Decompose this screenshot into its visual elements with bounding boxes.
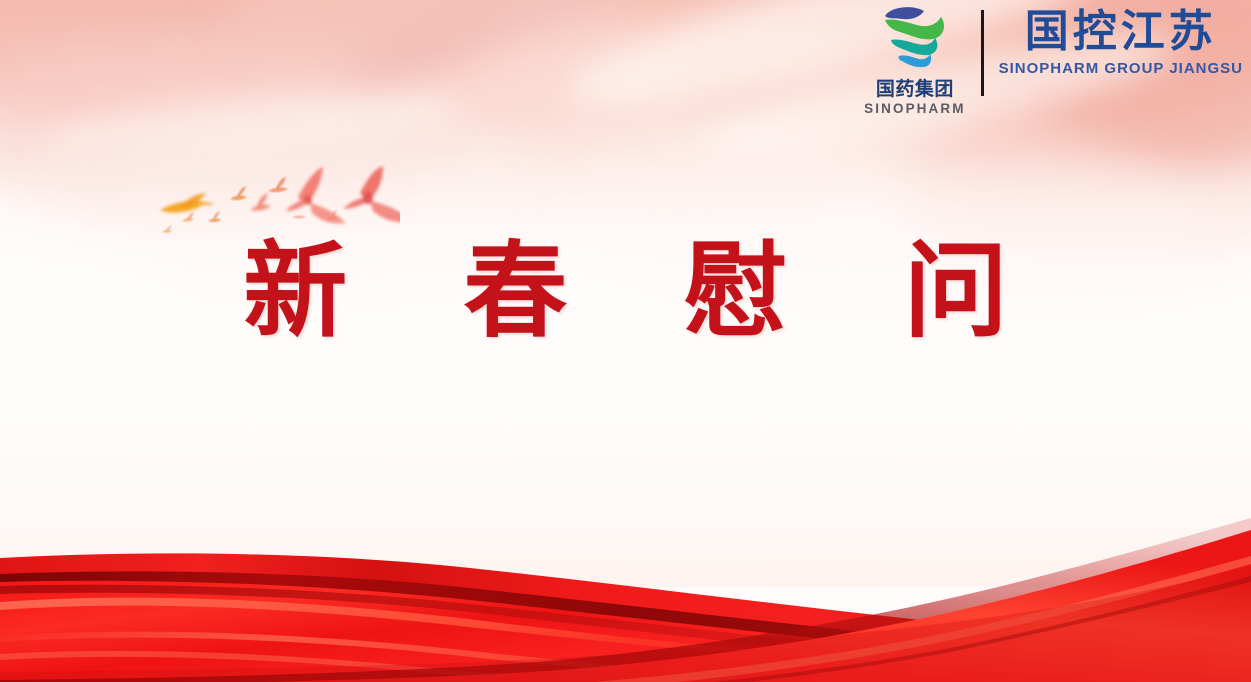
red-silk-ribbon-wave: [0, 512, 1251, 682]
wave-indigo: [885, 7, 924, 19]
sinopharm-logo-en: SINOPHARM: [864, 101, 965, 117]
brand-logo-block[interactable]: 国药集团 SINOPHARM 国控江苏 SINOPHARM GROUP JIAN…: [864, 4, 1243, 117]
vortex-mark-svg: [876, 6, 954, 72]
bird-speck-1: [292, 216, 306, 219]
jiangsu-logo-en: SINOPHARM GROUP JIANGSU: [999, 60, 1243, 78]
bird-mid-coral-2: [268, 177, 288, 192]
page-title: 新 春 慰 问: [0, 232, 1251, 351]
bird-small-1: [208, 211, 221, 222]
wave-teal: [891, 38, 937, 55]
logo-divider: [981, 10, 984, 96]
poster-canvas: 国药集团 SINOPHARM 国控江苏 SINOPHARM GROUP JIAN…: [0, 0, 1251, 682]
bird-mid-coral-1: [250, 193, 271, 211]
jiangsu-logo[interactable]: 国控江苏 SINOPHARM GROUP JIANGSU: [999, 4, 1243, 78]
jiangsu-logo-cn: 国控江苏: [1025, 8, 1217, 56]
wave-blue: [899, 54, 932, 67]
wave-green: [885, 17, 944, 39]
bird-small-2: [230, 186, 247, 200]
sinopharm-logo[interactable]: 国药集团 SINOPHARM: [864, 4, 965, 117]
bird-tiny-2: [182, 212, 194, 222]
bird-large-coral-1: [210, 167, 347, 224]
bird-large-orange: [160, 193, 214, 213]
sinopharm-logo-cn: 国药集团: [876, 79, 954, 101]
bird-large-coral-2: [343, 166, 400, 223]
ribbon-svg: [0, 512, 1251, 682]
sinopharm-vortex-mark: [876, 6, 954, 77]
